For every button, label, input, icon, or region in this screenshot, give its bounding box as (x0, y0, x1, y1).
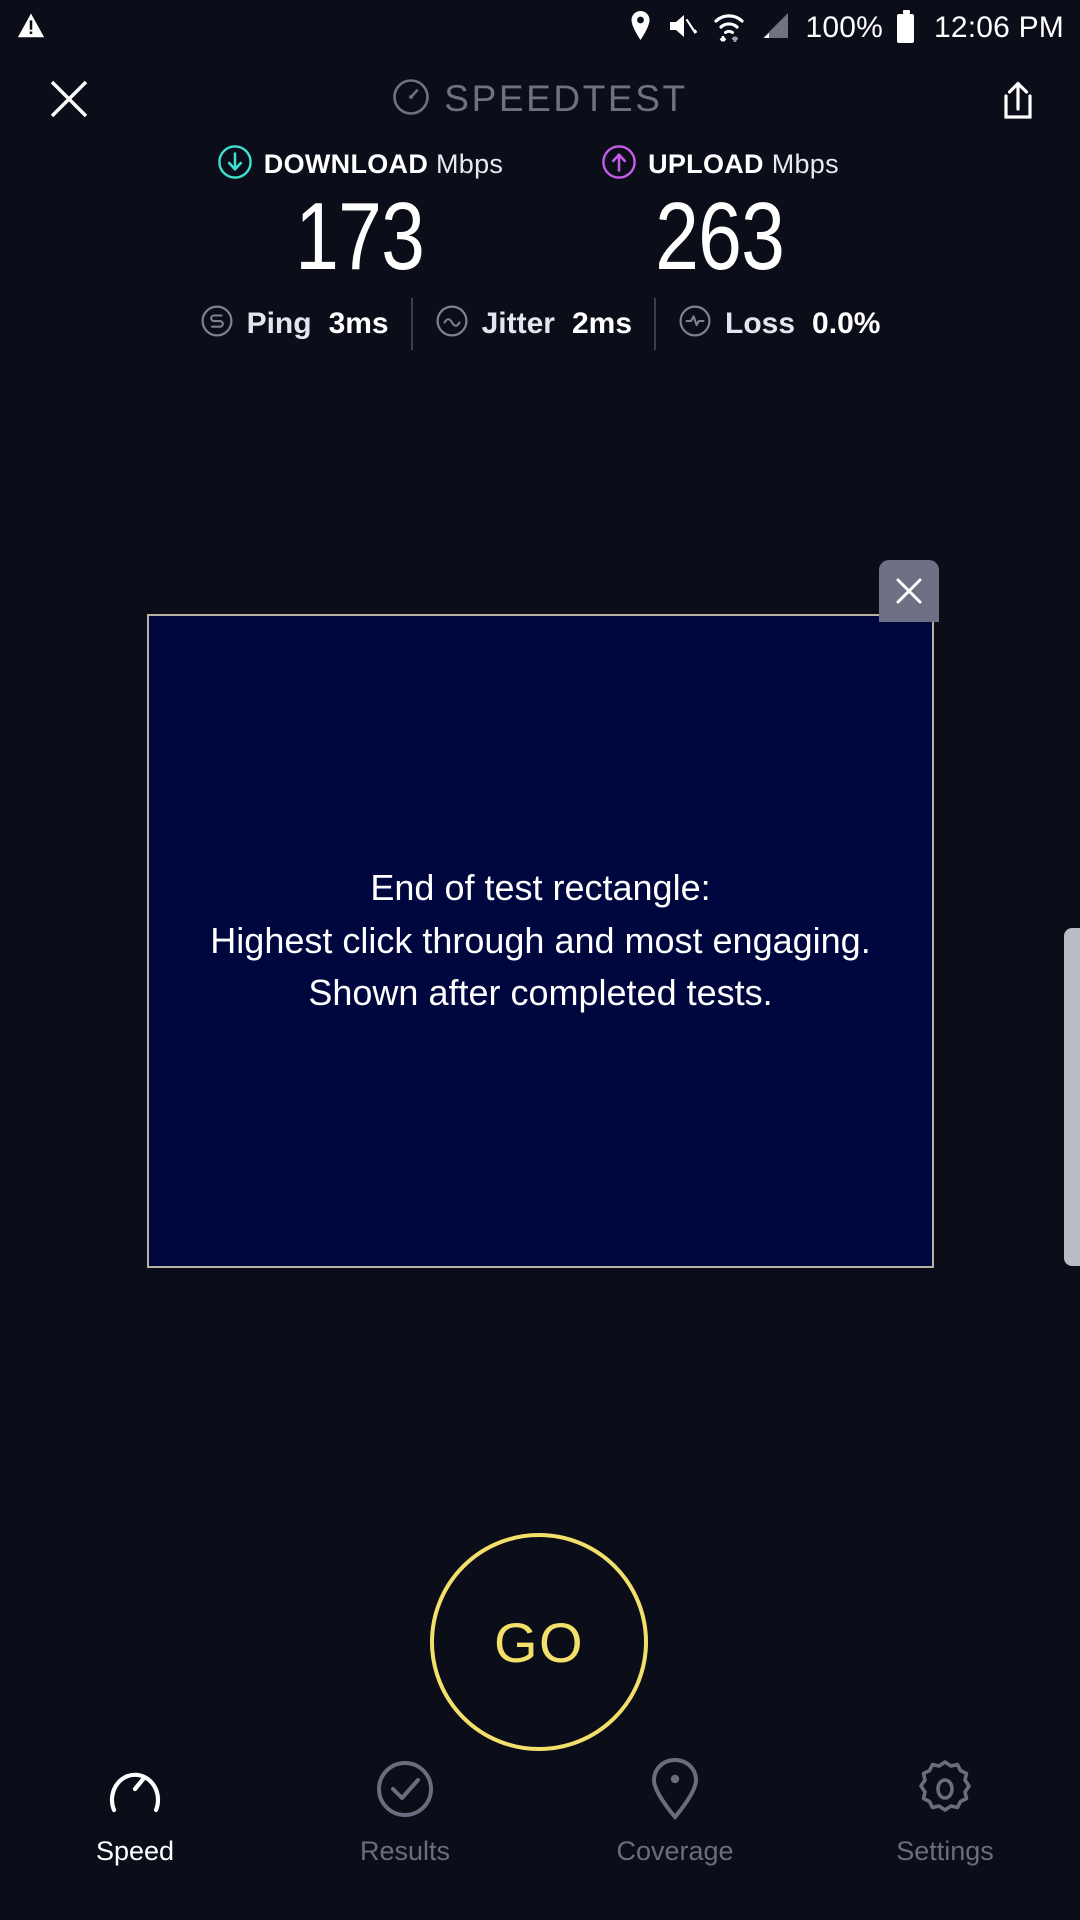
download-header: DOWNLOAD Mbps (217, 142, 503, 186)
loss-icon (678, 304, 712, 343)
gear-icon (914, 1758, 976, 1820)
nav-item-settings[interactable]: Settings (810, 1758, 1080, 1867)
brand: SPEEDTEST (0, 56, 1080, 142)
results-summary: DOWNLOAD Mbps 173 UPLOAD Mbps 263 (0, 142, 1080, 350)
cellular-signal-icon (759, 11, 791, 46)
battery-percent-label: 100% (805, 11, 883, 45)
speedtest-app-screen: 100% 12:06 PM SPEEDTEST (0, 0, 1080, 1920)
location-pin-icon (628, 10, 653, 47)
clock-label: 12:06 PM (934, 11, 1064, 45)
loss-stat: Loss 0.0% (656, 304, 902, 343)
wifi-icon (713, 9, 745, 48)
download-arrow-icon (217, 144, 253, 185)
ping-jitter-loss-row: Ping 3ms Jitter 2ms (0, 298, 1080, 350)
ping-icon (200, 304, 234, 343)
nav-item-coverage[interactable]: Coverage (540, 1758, 810, 1867)
upload-metric: UPLOAD Mbps 263 (540, 142, 900, 288)
advertisement-banner[interactable]: End of test rectangle: Highest click thr… (147, 614, 934, 1268)
share-button[interactable] (988, 72, 1048, 132)
close-icon (47, 77, 91, 121)
ping-label: Ping (247, 307, 312, 341)
upload-label: UPLOAD Mbps (648, 149, 839, 180)
ad-close-button[interactable] (879, 560, 939, 622)
download-label: DOWNLOAD Mbps (264, 149, 503, 180)
upload-arrow-icon (601, 144, 637, 185)
volume-mute-icon (667, 11, 699, 46)
warning-triangle-icon (16, 11, 46, 46)
app-header: SPEEDTEST (0, 56, 1080, 142)
jitter-label: Jitter (482, 307, 555, 341)
speedometer-icon (392, 78, 430, 121)
jitter-icon (435, 304, 469, 343)
check-circle-icon (375, 1758, 435, 1820)
loss-value: 0.0% (812, 307, 880, 341)
status-bar: 100% 12:06 PM (0, 0, 1080, 56)
go-button-label: GO (494, 1610, 584, 1675)
speedometer-icon (104, 1758, 166, 1820)
download-value: 173 (296, 186, 425, 288)
ad-close-icon (892, 574, 926, 608)
nav-item-speed[interactable]: Speed (0, 1758, 270, 1867)
status-bar-left (16, 11, 46, 46)
ping-stat: Ping 3ms (178, 304, 411, 343)
upload-value: 263 (656, 186, 785, 288)
ping-value: 3ms (329, 307, 389, 341)
battery-full-icon (897, 14, 914, 43)
bottom-navigation: Speed Results Coverage (0, 1740, 1080, 1920)
advertisement-text: End of test rectangle: Highest click thr… (192, 862, 888, 1021)
download-upload-row: DOWNLOAD Mbps 173 UPLOAD Mbps 263 (0, 142, 1080, 288)
loss-label: Loss (725, 307, 795, 341)
map-pin-icon (650, 1758, 700, 1820)
jitter-stat: Jitter 2ms (413, 304, 654, 343)
go-button[interactable]: GO (430, 1533, 648, 1751)
jitter-value: 2ms (572, 307, 632, 341)
close-button[interactable] (26, 56, 112, 142)
nav-item-results[interactable]: Results (270, 1758, 540, 1867)
status-bar-right: 100% 12:06 PM (628, 9, 1064, 48)
download-metric: DOWNLOAD Mbps 173 (180, 142, 540, 288)
vertical-scrollbar[interactable] (1064, 928, 1080, 1266)
nav-label-speed: Speed (96, 1836, 174, 1867)
upload-header: UPLOAD Mbps (601, 142, 839, 186)
share-icon (996, 79, 1040, 125)
nav-label-coverage: Coverage (616, 1836, 733, 1867)
nav-label-settings: Settings (896, 1836, 994, 1867)
nav-label-results: Results (360, 1836, 450, 1867)
brand-title: SPEEDTEST (444, 78, 687, 120)
